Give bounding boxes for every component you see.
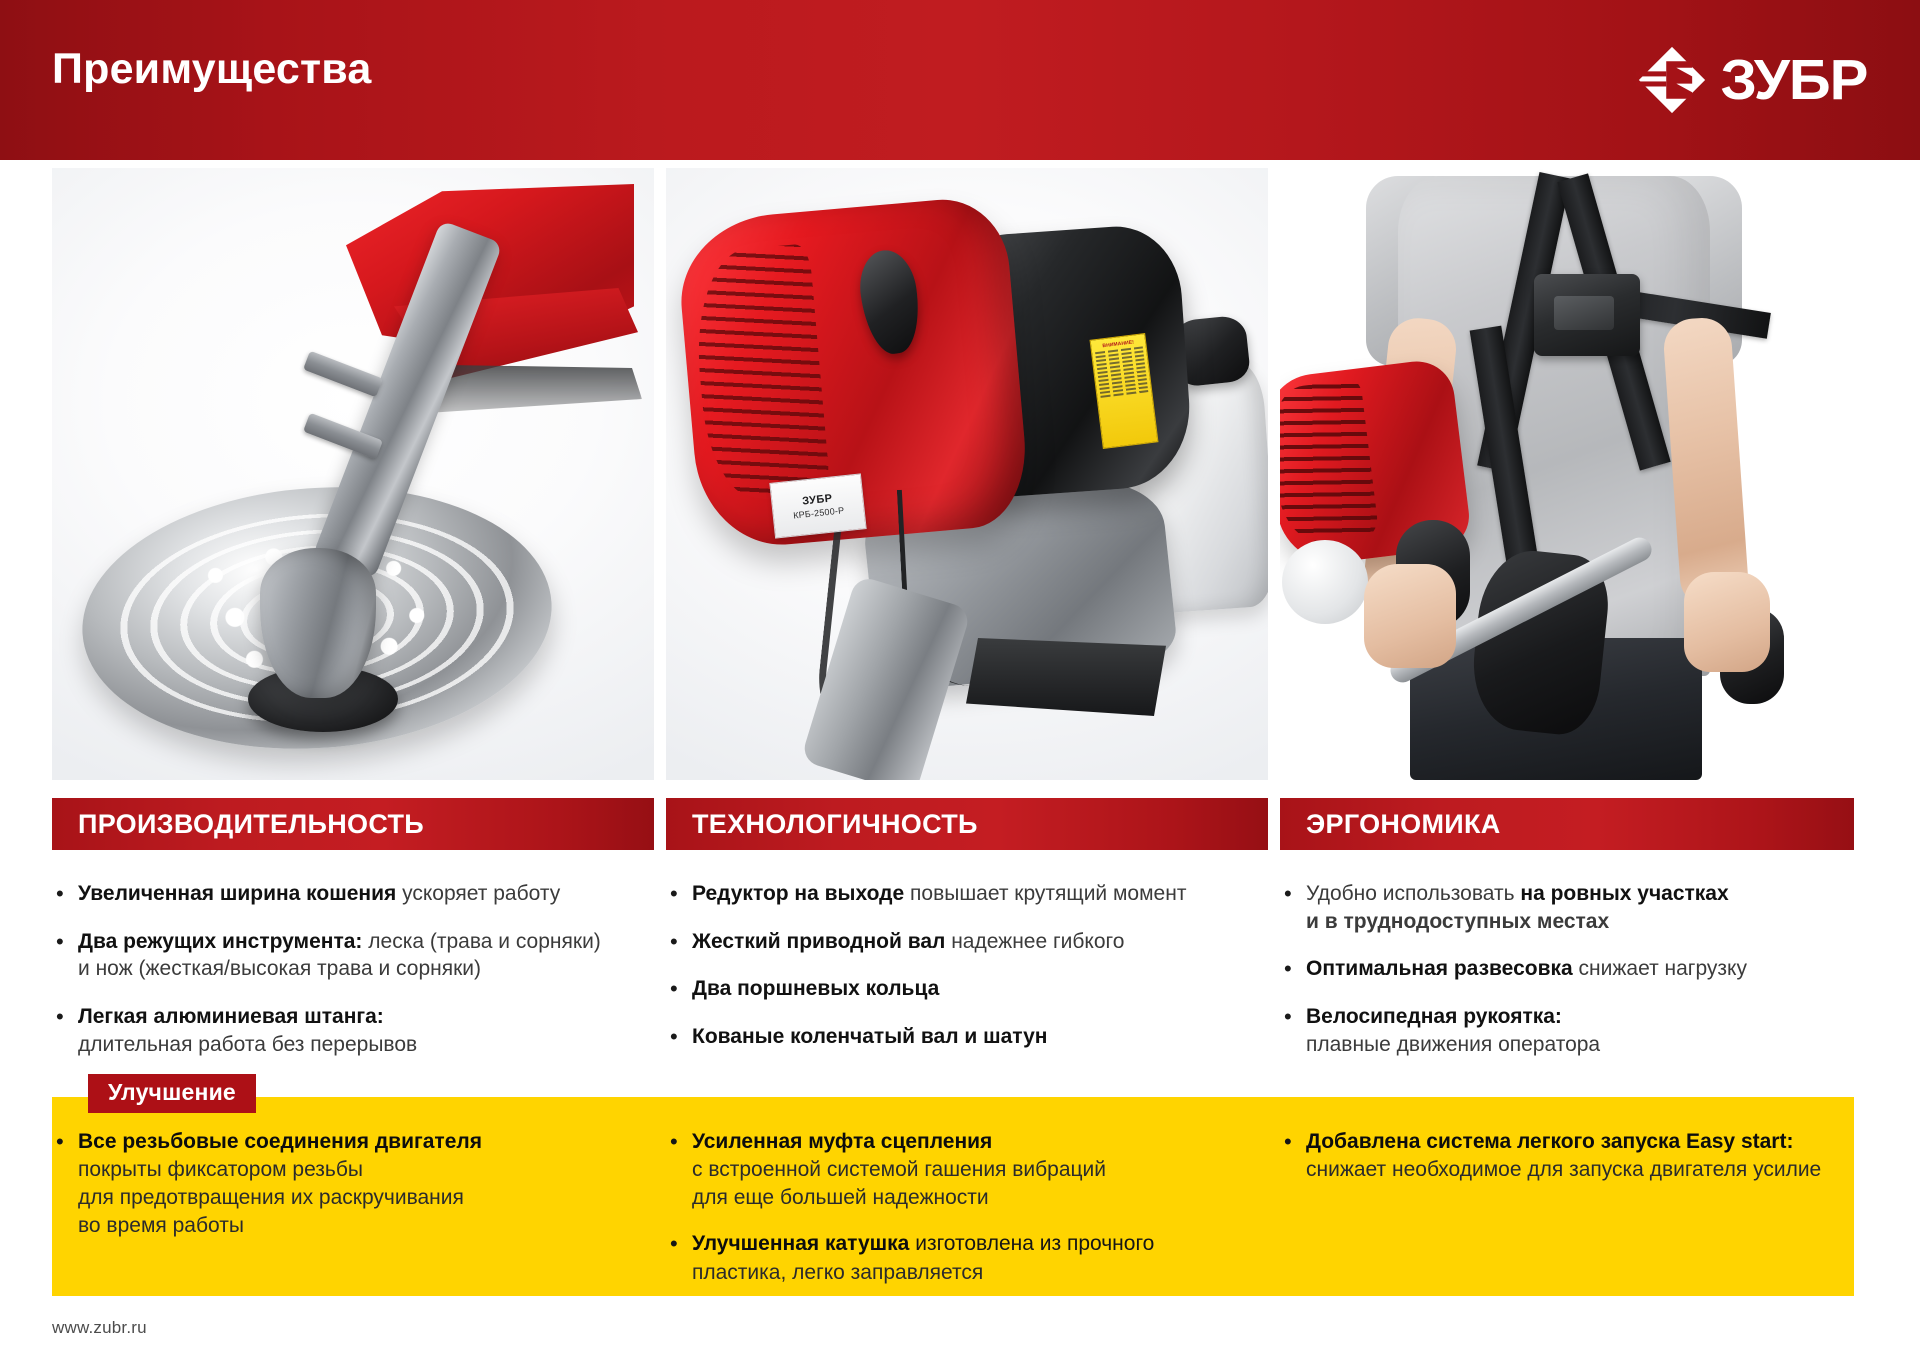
bullet-bold-text: Все резьбовые соединения двигателя bbox=[78, 1130, 482, 1153]
bullet-sub-text: и нож (жесткая/высокая трава и сорняки) bbox=[78, 955, 672, 983]
bullet-pre-text: Удобно использовать bbox=[1306, 882, 1520, 905]
operator-harness-photo bbox=[1280, 168, 1854, 780]
section-header-ergonomics: ЭРГОНОМИКА bbox=[1280, 798, 1854, 850]
advantages-slide: Преимущества ЗУБР bbox=[0, 0, 1920, 1357]
list-item: Удобно использовать на ровных участках и… bbox=[1280, 880, 1880, 935]
list-item: Добавлена система легкого запуска Easy s… bbox=[1280, 1128, 1880, 1184]
bullet-bold-text-2: покрыты фиксатором резьбы bbox=[78, 1156, 652, 1184]
brand-logo: ЗУБР bbox=[1636, 38, 1866, 122]
list-item: Усиленная муфта сцепления с встроенной с… bbox=[666, 1128, 1286, 1212]
trimmer-head-blade-photo bbox=[52, 168, 654, 780]
section-header-performance: ПРОИЗВОДИТЕЛЬНОСТЬ bbox=[52, 798, 654, 850]
list-item: Велосипедная рукоятка: плавные движения … bbox=[1280, 1003, 1880, 1058]
bullet-sub-text: с встроенной системой гашения вибраций bbox=[692, 1156, 1286, 1184]
bullet-bold-text: Добавлена система легкого запуска Easy s… bbox=[1306, 1130, 1793, 1153]
bullet-bold-text: Два режущих инструмента: bbox=[78, 930, 362, 953]
bullet-bold-text: Велосипедная рукоятка: bbox=[1306, 1005, 1562, 1028]
section-header-technology: ТЕХНОЛОГИЧНОСТЬ bbox=[666, 798, 1268, 850]
feature-list-ergonomics: Удобно использовать на ровных участках и… bbox=[1280, 880, 1880, 1079]
nameplate-brand: ЗУБР bbox=[802, 492, 833, 507]
bullet-bold-text: Оптимальная развесовка bbox=[1306, 957, 1573, 980]
list-item: Легкая алюминиевая штанга: длительная ра… bbox=[52, 1003, 672, 1058]
bullet-sub-text: снижает необходимое для запуска двигател… bbox=[1306, 1156, 1880, 1184]
bullet-bold-text: Жесткий приводной вал bbox=[692, 930, 945, 953]
improvement-list-3: Добавлена система легкого запуска Easy s… bbox=[1280, 1128, 1880, 1202]
feature-list-performance: Увеличенная ширина кошения ускоряет рабо… bbox=[52, 880, 672, 1079]
bullet-sub-text: плавные движения оператора bbox=[1306, 1031, 1880, 1059]
bullet-bold-text: на ровных участках bbox=[1520, 882, 1728, 905]
section-title: ЭРГОНОМИКА bbox=[1306, 811, 1501, 838]
bullet-rest-text: снижает нагрузку bbox=[1573, 957, 1747, 980]
bullet-sub-text-2: для еще большей надежности bbox=[692, 1184, 1286, 1212]
list-item: Редуктор на выходе повышает крутящий мом… bbox=[666, 880, 1286, 908]
bullet-sub-text: пластика, легко заправляется bbox=[692, 1259, 1286, 1287]
zubr-diamond-logo-icon bbox=[1636, 44, 1708, 116]
bullet-rest-text: надежнее гибкого bbox=[945, 930, 1124, 953]
bullet-bold-text: Два поршневых кольца bbox=[692, 977, 939, 1000]
bullet-bold-text: Легкая алюминиевая штанга: bbox=[78, 1005, 384, 1028]
bullet-rest-text: леска (трава и сорняки) bbox=[362, 930, 600, 953]
list-item: Жесткий приводной вал надежнее гибкого bbox=[666, 928, 1286, 956]
bullet-bold-text: Увеличенная ширина кошения bbox=[78, 882, 396, 905]
feature-list-technology: Редуктор на выходе повышает крутящий мом… bbox=[666, 880, 1286, 1071]
list-item: Оптимальная развесовка снижает нагрузку bbox=[1280, 955, 1880, 983]
list-item: Улучшенная катушка изготовлена из прочно… bbox=[666, 1230, 1286, 1286]
improvement-badge: Улучшение bbox=[88, 1074, 256, 1113]
brand-name: ЗУБР bbox=[1721, 52, 1868, 109]
footer-website-url[interactable]: www.zubr.ru bbox=[52, 1318, 147, 1338]
list-item: Два поршневых кольца bbox=[666, 975, 1286, 1003]
improvement-list-1: Все резьбовые соединения двигателя покры… bbox=[52, 1128, 652, 1259]
bullet-rest-text: повышает крутящий момент bbox=[904, 882, 1186, 905]
engine-nameplate: ЗУБР КРБ-2500-Р bbox=[769, 473, 866, 538]
engine-photo: ЗУБР КРБ-2500-Р ВНИМАНИЕ! bbox=[666, 168, 1268, 780]
bullet-bold-text: Усиленная муфта сцепления bbox=[692, 1130, 992, 1153]
list-item: Кованые коленчатый вал и шатун bbox=[666, 1023, 1286, 1051]
section-title: ТЕХНОЛОГИЧНОСТЬ bbox=[692, 811, 978, 838]
section-title: ПРОИЗВОДИТЕЛЬНОСТЬ bbox=[78, 811, 424, 838]
list-item: Два режущих инструмента: леска (трава и … bbox=[52, 928, 672, 983]
list-item: Увеличенная ширина кошения ускоряет рабо… bbox=[52, 880, 672, 908]
bullet-rest-text: ускоряет работу bbox=[396, 882, 560, 905]
bullet-rest-text: изготовлена из прочного bbox=[909, 1232, 1154, 1255]
bullet-sub-bold-text: и в труднодоступных местах bbox=[1306, 908, 1880, 936]
page-header: Преимущества ЗУБР bbox=[0, 0, 1920, 160]
photo-strip: ЗУБР КРБ-2500-Р ВНИМАНИЕ! bbox=[0, 168, 1920, 780]
bullet-sub-text: для предотвращения их раскручивания bbox=[78, 1184, 652, 1212]
list-item: Все резьбовые соединения двигателя покры… bbox=[52, 1128, 652, 1241]
bullet-bold-text: Кованые коленчатый вал и шатун bbox=[692, 1025, 1047, 1048]
improvement-list-2: Усиленная муфта сцепления с встроенной с… bbox=[666, 1128, 1286, 1305]
bullet-sub-text-2: во время работы bbox=[78, 1212, 652, 1240]
nameplate-model: КРБ-2500-Р bbox=[793, 505, 845, 520]
page-title: Преимущества bbox=[52, 46, 371, 93]
bullet-sub-text: длительная работа без перерывов bbox=[78, 1031, 672, 1059]
bullet-bold-text: Редуктор на выходе bbox=[692, 882, 904, 905]
bullet-bold-text: Улучшенная катушка bbox=[692, 1232, 909, 1255]
